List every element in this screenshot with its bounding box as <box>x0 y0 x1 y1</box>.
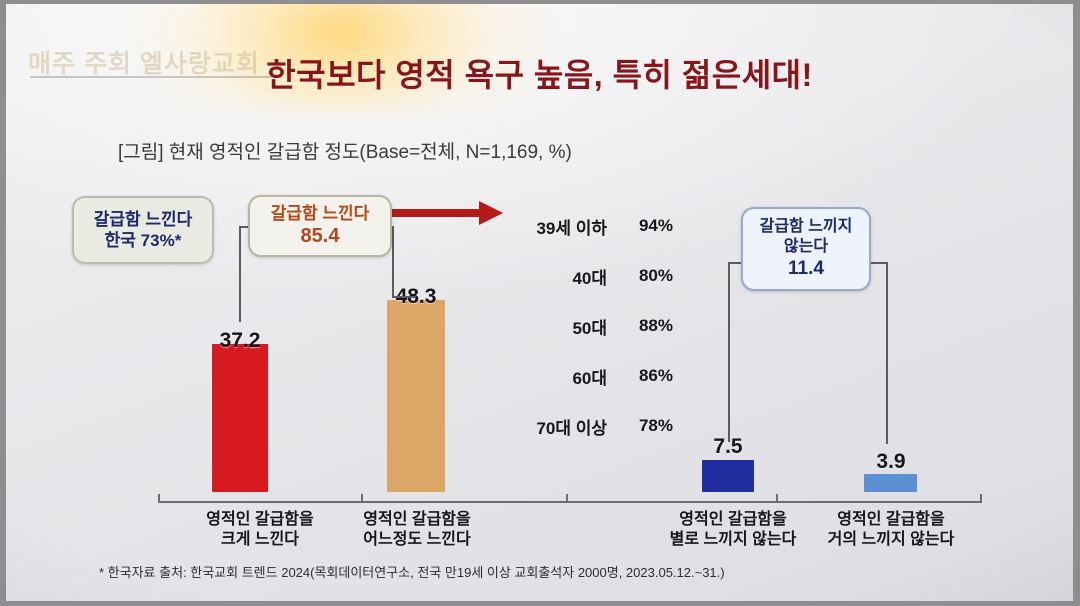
slide-photograph: 매주 주회 엘사랑교회 한국보다 영적 욕구 높음, 특히 젊은세대! [그림]… <box>0 0 1080 606</box>
age-group-label: 40대 <box>503 264 607 289</box>
age-group-value: 88% <box>607 316 673 336</box>
bar-value-label: 3.9 <box>843 450 939 474</box>
age-group-value: 94% <box>607 216 673 236</box>
age-group-label: 70대 이상 <box>503 414 607 439</box>
bar-series-1 <box>212 344 268 492</box>
chart-axis-line <box>158 501 982 503</box>
callout-notfeel-value: 11.4 <box>788 257 824 281</box>
callout-notfeel-line2: 않는다 <box>784 237 828 257</box>
category-label-2: 영적인 갈급함을 어느정도 느낀다 <box>317 510 517 549</box>
table-row: 40대 80% <box>503 251 673 301</box>
callout-not-feel-thirsty: 갈급함 느끼지 않는다 11.4 <box>741 207 871 291</box>
axis-tick <box>980 494 982 503</box>
bar-chart: 37.2 48.3 7.5 3.9 영적인 갈급함을 크게 느낀다 영적인 갈급… <box>6 4 1073 601</box>
age-group-label: 39세 이하 <box>503 214 607 239</box>
red-arrow-head-icon <box>479 201 503 225</box>
callout-korea-line2: 한국 73%* <box>105 230 182 251</box>
category-label-3: 영적인 갈급함을 별로 느끼지 않는다 <box>643 510 823 549</box>
bracket-left-foot <box>392 296 416 298</box>
bracket-right-stub-2 <box>868 262 888 264</box>
category-label-4: 영적인 갈급함을 거의 느끼지 않는다 <box>801 510 981 549</box>
age-group-value: 78% <box>607 416 673 436</box>
bar-series-2 <box>387 300 445 492</box>
axis-tick <box>361 494 363 503</box>
table-row: 60대 86% <box>503 351 673 401</box>
callout-korea-line1: 갈급함 느낀다 <box>94 209 193 230</box>
category-label-line: 영적인 갈급함을 <box>801 510 981 530</box>
age-group-value: 86% <box>607 366 673 386</box>
bracket-right-leg-2 <box>886 262 888 444</box>
callout-feel-thirsty: 갈급함 느낀다 85.4 <box>248 195 392 257</box>
category-label-line: 별로 느끼지 않는다 <box>643 530 823 550</box>
age-group-value: 80% <box>607 266 673 286</box>
bar-series-4 <box>864 474 917 492</box>
red-arrow-shaft <box>390 209 482 217</box>
table-row: 39세 이하 94% <box>503 201 673 251</box>
age-breakdown-table: 39세 이하 94% 40대 80% 50대 88% 60대 86% 70대 이… <box>503 201 673 451</box>
slide-surface: 매주 주회 엘사랑교회 한국보다 영적 욕구 높음, 특히 젊은세대! [그림]… <box>6 4 1073 601</box>
age-group-label: 50대 <box>503 314 607 339</box>
bar-value-label: 37.2 <box>192 329 288 353</box>
bracket-left-leg-2 <box>392 226 394 298</box>
callout-notfeel-line1: 갈급함 느끼지 <box>760 217 853 237</box>
axis-tick <box>158 494 160 503</box>
category-label-line: 거의 느끼지 않는다 <box>801 530 981 550</box>
callout-feel-line1: 갈급함 느낀다 <box>271 203 370 224</box>
axis-tick <box>566 494 568 503</box>
callout-feel-value: 85.4 <box>301 224 340 249</box>
category-label-line: 영적인 갈급함을 <box>317 510 517 530</box>
table-row: 50대 88% <box>503 301 673 351</box>
bracket-right-leg-1 <box>728 262 730 442</box>
bar-value-label: 48.3 <box>368 285 464 309</box>
bracket-left-leg-1 <box>239 226 241 322</box>
bar-series-3 <box>702 460 754 492</box>
category-label-line: 어느정도 느낀다 <box>317 530 517 550</box>
category-label-line: 영적인 갈급함을 <box>643 510 823 530</box>
source-footnote: * 한국자료 출처: 한국교회 트렌드 2024(목회데이터연구소, 전국 만1… <box>99 562 725 581</box>
callout-korea: 갈급함 느낀다 한국 73%* <box>72 196 214 264</box>
age-group-label: 60대 <box>503 364 607 389</box>
table-row: 70대 이상 78% <box>503 401 673 451</box>
axis-tick <box>776 494 778 503</box>
